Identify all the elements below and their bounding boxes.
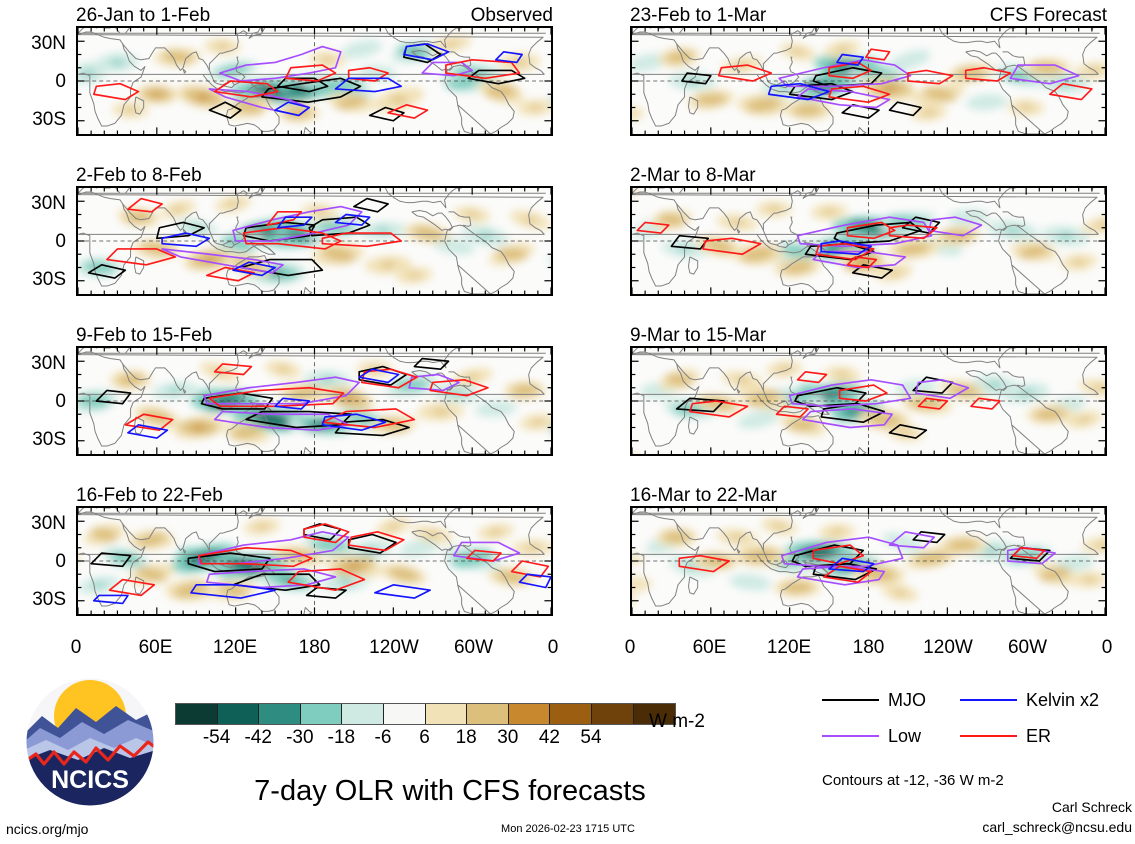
ylabel-30n-row4: 30N [0,514,66,533]
panel-title: 9-Mar to 15-Mar [630,326,766,345]
ylabel-30n-row3: 30N [0,354,66,373]
ylabel-0-row4: 0 [0,552,66,571]
colorbar-swatch-9 [550,704,592,724]
timestamp: Mon 2026-02-23 1715 UTC [501,823,635,835]
olr-field [632,28,1105,134]
ylabel-30s-row4: 30S [0,590,66,609]
xtick-observed-60W: 60W [454,638,493,657]
olr-field [78,348,551,454]
olr-field [78,188,551,294]
xtick-cfs-180: 180 [853,638,885,657]
xtick-observed-120E: 120E [213,638,257,657]
legend-item-kelvin: Kelvin x2 [960,691,1099,709]
panel-title: 16-Feb to 22-Feb [76,486,223,505]
map-observed-row4 [76,506,553,616]
xtick-cfs-0: 0 [625,638,636,657]
map-observed-row2 [76,186,553,296]
logo-text: NCICS [51,766,129,794]
panel-title: 23-Feb to 1-Mar [630,6,766,25]
olr-field [78,508,551,614]
ylabel-0-row2: 0 [0,232,66,251]
colorbar-swatch-3 [301,704,343,724]
colorbar-swatch-1 [218,704,260,724]
map-observed-row3 [76,346,553,456]
xtick-observed-180: 180 [299,638,331,657]
olr-field [632,188,1105,294]
legend-label-low: Low [888,727,921,745]
main-title: 7-day OLR with CFS forecasts [170,776,730,806]
map-cfs-row2 [630,186,1107,296]
colorbar-tick--54: -54 [203,728,230,747]
olr-field [78,28,551,134]
olr-field [632,348,1105,454]
legend-line-mjo [822,699,879,701]
legend-label-kelvin: Kelvin x2 [1026,691,1099,709]
colorbar-tick--6: -6 [375,728,392,747]
ylabel-30s-row2: 30S [0,270,66,289]
legend-label-mjo: MJO [888,691,926,709]
xaxis-cfs: 060E120E180120W60W0 [630,638,1107,664]
colorbar-swatch-0 [176,704,218,724]
colorbar-swatch-6 [426,704,468,724]
colorbar-swatch-8 [509,704,551,724]
ylabel-0-row3: 0 [0,392,66,411]
colorbar-tick--42: -42 [244,728,271,747]
site-url: ncics.org/mjo [6,822,88,837]
xtick-cfs-0: 0 [1102,638,1113,657]
column-header-observed: Observed [353,6,553,25]
colorbar-tick-30: 30 [497,728,518,747]
column-header-cfs: CFS Forecast [907,6,1107,25]
map-cfs-row4 [630,506,1107,616]
ylabel-30s-row1: 30S [0,110,66,129]
xtick-observed-0: 0 [71,638,82,657]
legend-item-low: Low [822,727,921,745]
colorbar-tick-18: 18 [456,728,477,747]
colorbar-tick-54: 54 [580,728,601,747]
xtick-cfs-60W: 60W [1008,638,1047,657]
legend-item-er: ER [960,727,1051,745]
xtick-observed-120W: 120W [369,638,419,657]
olr-field [632,508,1105,614]
colorbar-tick--18: -18 [328,728,355,747]
legend-label-er: ER [1026,727,1051,745]
author-email: carl_schreck@ncsu.edu [820,820,1132,835]
xtick-observed-0: 0 [548,638,559,657]
panel-title: 26-Jan to 1-Feb [76,6,210,25]
contour-note: Contours at -12, -36 W m-2 [822,773,1004,789]
colorbar-swatch-7 [467,704,509,724]
colorbar-swatch-4 [342,704,384,724]
map-cfs-row3 [630,346,1107,456]
author-name: Carl Schreck [820,800,1132,815]
colorbar-tick--30: -30 [286,728,313,747]
panel-title: 9-Feb to 15-Feb [76,326,212,345]
xtick-observed-60E: 60E [139,638,173,657]
ylabel-30s-row3: 30S [0,430,66,449]
panel-title: 2-Feb to 8-Feb [76,166,202,185]
legend-line-low [822,735,879,737]
ylabel-30n-row2: 30N [0,194,66,213]
ylabel-30n-row1: 30N [0,34,66,53]
legend-line-kelvin [960,699,1017,701]
panel-title: 16-Mar to 22-Mar [630,486,777,505]
colorbar-tick-6: 6 [419,728,430,747]
colorbar [175,703,676,725]
legend-line-er [960,735,1017,737]
xaxis-observed: 060E120E180120W60W0 [76,638,553,664]
colorbar-swatch-2 [259,704,301,724]
xtick-cfs-60E: 60E [693,638,727,657]
map-observed-row1 [76,26,553,136]
map-cfs-row1 [630,26,1107,136]
colorbar-swatch-10 [592,704,634,724]
ncics-logo: NCICS [24,676,156,808]
xtick-cfs-120E: 120E [767,638,811,657]
ylabel-0-row1: 0 [0,72,66,91]
colorbar-tick-42: 42 [539,728,560,747]
colorbar-swatch-5 [384,704,426,724]
legend-item-mjo: MJO [822,691,926,709]
panel-title: 2-Mar to 8-Mar [630,166,756,185]
xtick-cfs-120W: 120W [923,638,973,657]
